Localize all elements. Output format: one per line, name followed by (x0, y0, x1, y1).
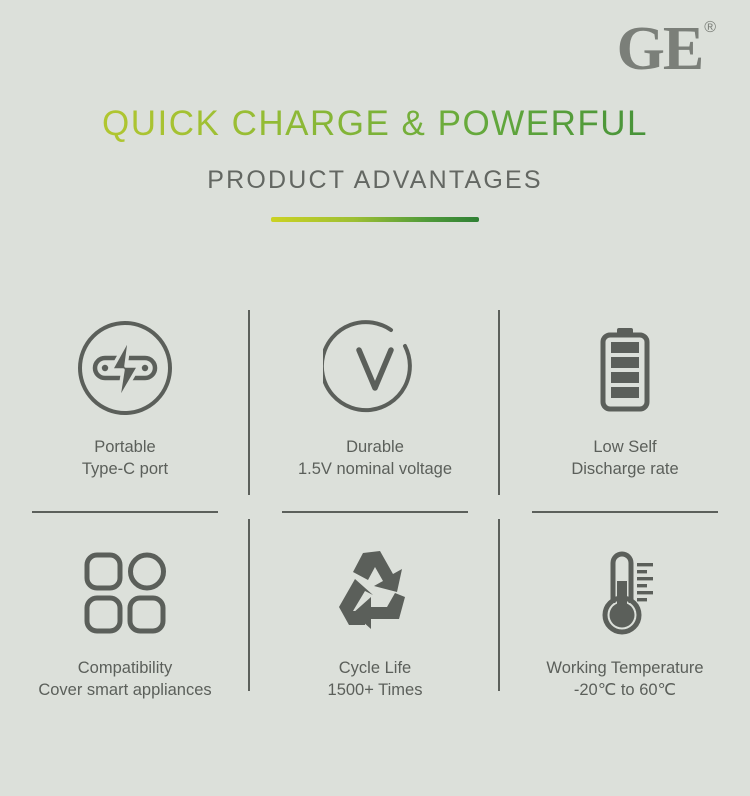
voltage-v-circle-icon (323, 312, 427, 424)
feature-grid: Portable Type-C port Durable 1.5V nomina… (0, 300, 750, 709)
feature-line-2: -20℃ to 60℃ (546, 679, 703, 701)
feature-label-portable: Portable Type-C port (82, 436, 168, 481)
feature-row-1: Portable Type-C port Durable 1.5V nomina… (0, 300, 750, 505)
row-divider-segment (0, 511, 250, 513)
battery-full-icon (573, 312, 677, 424)
registered-trademark-symbol: ® (704, 20, 716, 36)
feature-cell-portable: Portable Type-C port (0, 300, 250, 505)
recycle-icon (325, 541, 425, 645)
usb-c-lightning-icon (73, 312, 177, 424)
brand-monogram: GE (617, 18, 703, 80)
feature-line-1: Low Self (571, 436, 678, 458)
feature-cell-low-self-discharge: Low Self Discharge rate (500, 300, 750, 505)
feature-line-2: 1500+ Times (328, 679, 423, 701)
feature-label-cycle-life: Cycle Life 1500+ Times (328, 657, 423, 702)
brand-logo: GE ® (617, 18, 716, 80)
feature-line-1: Portable (82, 436, 168, 458)
feature-label-low-self-discharge: Low Self Discharge rate (571, 436, 678, 481)
feature-label-working-temperature: Working Temperature -20℃ to 60℃ (546, 657, 703, 702)
feature-cell-working-temperature: Working Temperature -20℃ to 60℃ (500, 519, 750, 709)
feature-line-1: Durable (298, 436, 452, 458)
thermometer-icon (577, 541, 673, 645)
row-divider-segment (500, 511, 750, 513)
feature-line-1: Working Temperature (546, 657, 703, 679)
feature-label-durable: Durable 1.5V nominal voltage (298, 436, 452, 481)
feature-line-1: Cycle Life (328, 657, 423, 679)
header-block: QUICK CHARGE & POWERFUL PRODUCT ADVANTAG… (0, 104, 750, 222)
row-divider-segment (250, 511, 500, 513)
row-divider-group (0, 511, 750, 513)
feature-line-2: Type-C port (82, 458, 168, 480)
feature-cell-compatibility: Compatibility Cover smart appliances (0, 519, 250, 709)
feature-row-2: Compatibility Cover smart appliances (0, 519, 750, 709)
feature-line-2: Cover smart appliances (38, 679, 211, 701)
feature-label-compatibility: Compatibility Cover smart appliances (38, 657, 211, 702)
feature-cell-cycle-life: Cycle Life 1500+ Times (250, 519, 500, 709)
page-subtitle: PRODUCT ADVANTAGES (0, 166, 750, 195)
feature-line-2: Discharge rate (571, 458, 678, 480)
title-underline-rule (271, 217, 479, 222)
feature-cell-durable: Durable 1.5V nominal voltage (250, 300, 500, 505)
app-grid-icon (77, 541, 173, 645)
feature-line-1: Compatibility (38, 657, 211, 679)
feature-line-2: 1.5V nominal voltage (298, 458, 452, 480)
page-title: QUICK CHARGE & POWERFUL (0, 104, 750, 144)
